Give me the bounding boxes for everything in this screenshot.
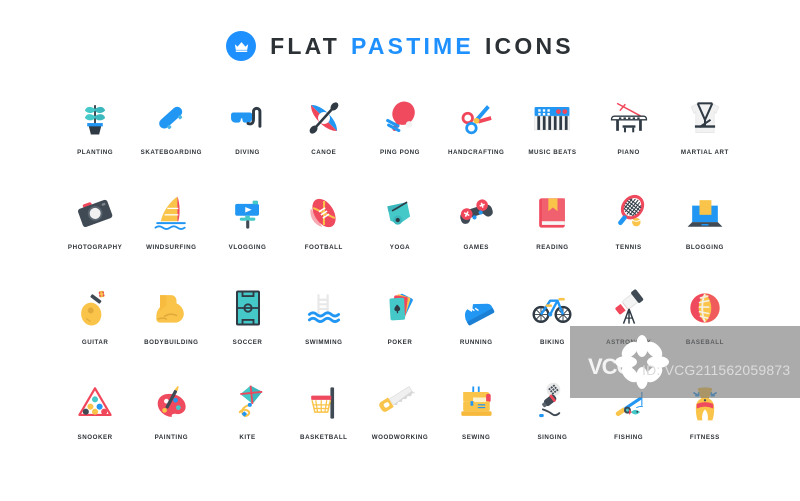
icon-cell-reading[interactable]: READING xyxy=(514,187,590,282)
icon-label: SOCCER xyxy=(233,339,263,346)
icon-cell-woodworking[interactable]: WOODWORKING xyxy=(362,377,438,472)
slim-waist-body-icon xyxy=(679,377,731,429)
icon-cell-running[interactable]: RUNNING xyxy=(438,282,514,377)
icon-grid: PLANTING SKATEBOARDING DIVING xyxy=(0,92,800,472)
fishing-rod-fish-icon xyxy=(603,377,655,429)
icon-label: POKER xyxy=(388,339,413,346)
yoga-mat-icon xyxy=(374,187,426,239)
icon-label: BASEBALL xyxy=(686,339,724,346)
icon-label: PHOTOGRAPHY xyxy=(68,244,122,251)
icon-cell-poker[interactable]: POKER xyxy=(362,282,438,377)
title-word-flat: FLAT xyxy=(270,33,340,60)
icon-label: BASKETBALL xyxy=(300,434,347,441)
icon-label: PING PONG xyxy=(380,149,420,156)
icon-cell-fishing[interactable]: FISHING xyxy=(591,377,667,472)
soccer-field-icon xyxy=(222,282,274,334)
playing-cards-icon xyxy=(374,282,426,334)
kite-icon xyxy=(222,377,274,429)
icon-label: TENNIS xyxy=(616,244,642,251)
running-shoe-icon xyxy=(450,282,502,334)
icon-cell-canoe[interactable]: CANOE xyxy=(286,92,362,187)
crown-badge-icon xyxy=(226,31,256,61)
icon-label: SNOOKER xyxy=(78,434,113,441)
icon-cell-martial-art[interactable]: MARTIAL ART xyxy=(667,92,743,187)
icon-cell-blogging[interactable]: BLOGGING xyxy=(667,187,743,282)
icon-label: HANDCRAFTING xyxy=(448,149,504,156)
icon-cell-biking[interactable]: BIKING xyxy=(514,282,590,377)
icon-label: PLANTING xyxy=(77,149,113,156)
selfie-stick-camera-icon xyxy=(222,187,274,239)
icon-label: SINGING xyxy=(537,434,567,441)
laptop-post-icon xyxy=(679,187,731,239)
icon-cell-diving[interactable]: DIVING xyxy=(209,92,285,187)
icon-cell-games[interactable]: GAMES xyxy=(438,187,514,282)
title-word-pastime: PASTIME xyxy=(351,33,474,60)
icon-cell-kite[interactable]: KITE xyxy=(209,377,285,472)
sewing-machine-icon xyxy=(450,377,502,429)
canoe-paddle-icon xyxy=(298,92,350,144)
icon-label: RUNNING xyxy=(460,339,493,346)
icon-label: SEWING xyxy=(462,434,490,441)
icon-label: CANOE xyxy=(311,149,336,156)
icon-cell-singing[interactable]: SINGING xyxy=(514,377,590,472)
icon-cell-football[interactable]: FOOTBALL xyxy=(286,187,362,282)
icon-cell-ping-pong[interactable]: PING PONG xyxy=(362,92,438,187)
microphone-icon xyxy=(526,377,578,429)
ping-pong-paddle-icon xyxy=(374,92,426,144)
icon-label: SWIMMING xyxy=(305,339,342,346)
diving-mask-snorkel-icon xyxy=(222,92,274,144)
icon-label: KITE xyxy=(239,434,255,441)
flexed-biceps-icon xyxy=(145,282,197,334)
icon-cell-guitar[interactable]: GUITAR xyxy=(57,282,133,377)
bicycle-icon xyxy=(526,282,578,334)
icon-cell-baseball[interactable]: BASEBALL xyxy=(667,282,743,377)
icon-cell-astronomy[interactable]: ASTRONOMY xyxy=(591,282,667,377)
icon-cell-vlogging[interactable]: VLOGGING xyxy=(209,187,285,282)
icon-label: ASTRONOMY xyxy=(606,339,651,346)
icon-label: GAMES xyxy=(463,244,488,251)
icon-label: VLOGGING xyxy=(229,244,267,251)
icon-cell-tennis[interactable]: TENNIS xyxy=(591,187,667,282)
icon-cell-basketball[interactable]: BASKETBALL xyxy=(286,377,362,472)
icon-label: DIVING xyxy=(235,149,260,156)
tennis-racket-ball-icon xyxy=(603,187,655,239)
icon-cell-bodybuilding[interactable]: BODYBUILDING xyxy=(133,282,209,377)
skateboard-icon xyxy=(145,92,197,144)
potted-plant-icon xyxy=(69,92,121,144)
icon-cell-piano[interactable]: PIANO xyxy=(591,92,667,187)
grand-piano-icon xyxy=(603,92,655,144)
icon-cell-windsurfing[interactable]: WINDSURFING xyxy=(133,187,209,282)
icon-label: SKATEBOARDING xyxy=(141,149,202,156)
icon-label: PAINTING xyxy=(155,434,189,441)
icon-label: PIANO xyxy=(617,149,639,156)
icon-cell-music-beats[interactable]: MUSIC BEATS xyxy=(514,92,590,187)
icon-label: WINDSURFING xyxy=(146,244,196,251)
windsurf-sail-icon xyxy=(145,187,197,239)
icon-cell-skateboarding[interactable]: SKATEBOARDING xyxy=(133,92,209,187)
icon-label: BLOGGING xyxy=(686,244,724,251)
scissors-icon xyxy=(450,92,502,144)
synthesizer-keyboard-icon xyxy=(526,92,578,144)
icon-label: FOOTBALL xyxy=(305,244,343,251)
icon-label: WOODWORKING xyxy=(372,434,429,441)
camera-icon xyxy=(69,187,121,239)
icon-cell-yoga[interactable]: YOGA xyxy=(362,187,438,282)
palette-brush-icon xyxy=(145,377,197,429)
baseball-icon xyxy=(679,282,731,334)
telescope-icon xyxy=(603,282,655,334)
book-bookmark-icon xyxy=(526,187,578,239)
acoustic-guitar-icon xyxy=(69,282,121,334)
icon-cell-snooker[interactable]: SNOOKER xyxy=(57,377,133,472)
icon-label: MARTIAL ART xyxy=(681,149,729,156)
icon-label: BIKING xyxy=(540,339,565,346)
snooker-rack-balls-icon xyxy=(69,377,121,429)
icon-label: BODYBUILDING xyxy=(144,339,198,346)
icon-cell-photography[interactable]: PHOTOGRAPHY xyxy=(57,187,133,282)
martial-art-uniform-icon xyxy=(679,92,731,144)
page-title: FLAT PASTIME ICONS xyxy=(270,33,574,60)
icon-cell-handcrafting[interactable]: HANDCRAFTING xyxy=(438,92,514,187)
gamepad-icon xyxy=(450,187,502,239)
icon-cell-sewing[interactable]: SEWING xyxy=(438,377,514,472)
page-header: FLAT PASTIME ICONS xyxy=(0,0,800,92)
icon-label: MUSIC BEATS xyxy=(528,149,576,156)
pool-ladder-waves-icon xyxy=(298,282,350,334)
icon-cell-soccer[interactable]: SOCCER xyxy=(209,282,285,377)
icon-label: GUITAR xyxy=(82,339,109,346)
icon-label: FISHING xyxy=(614,434,643,441)
handsaw-icon xyxy=(374,377,426,429)
american-football-icon xyxy=(298,187,350,239)
icon-cell-fitness[interactable]: FITNESS xyxy=(667,377,743,472)
icon-cell-planting[interactable]: PLANTING xyxy=(57,92,133,187)
icon-cell-painting[interactable]: PAINTING xyxy=(133,377,209,472)
title-word-icons: ICONS xyxy=(485,33,574,60)
icon-label: FITNESS xyxy=(690,434,720,441)
icon-label: READING xyxy=(536,244,568,251)
icon-cell-swimming[interactable]: SWIMMING xyxy=(286,282,362,377)
basketball-hoop-icon xyxy=(298,377,350,429)
icon-label: YOGA xyxy=(390,244,410,251)
